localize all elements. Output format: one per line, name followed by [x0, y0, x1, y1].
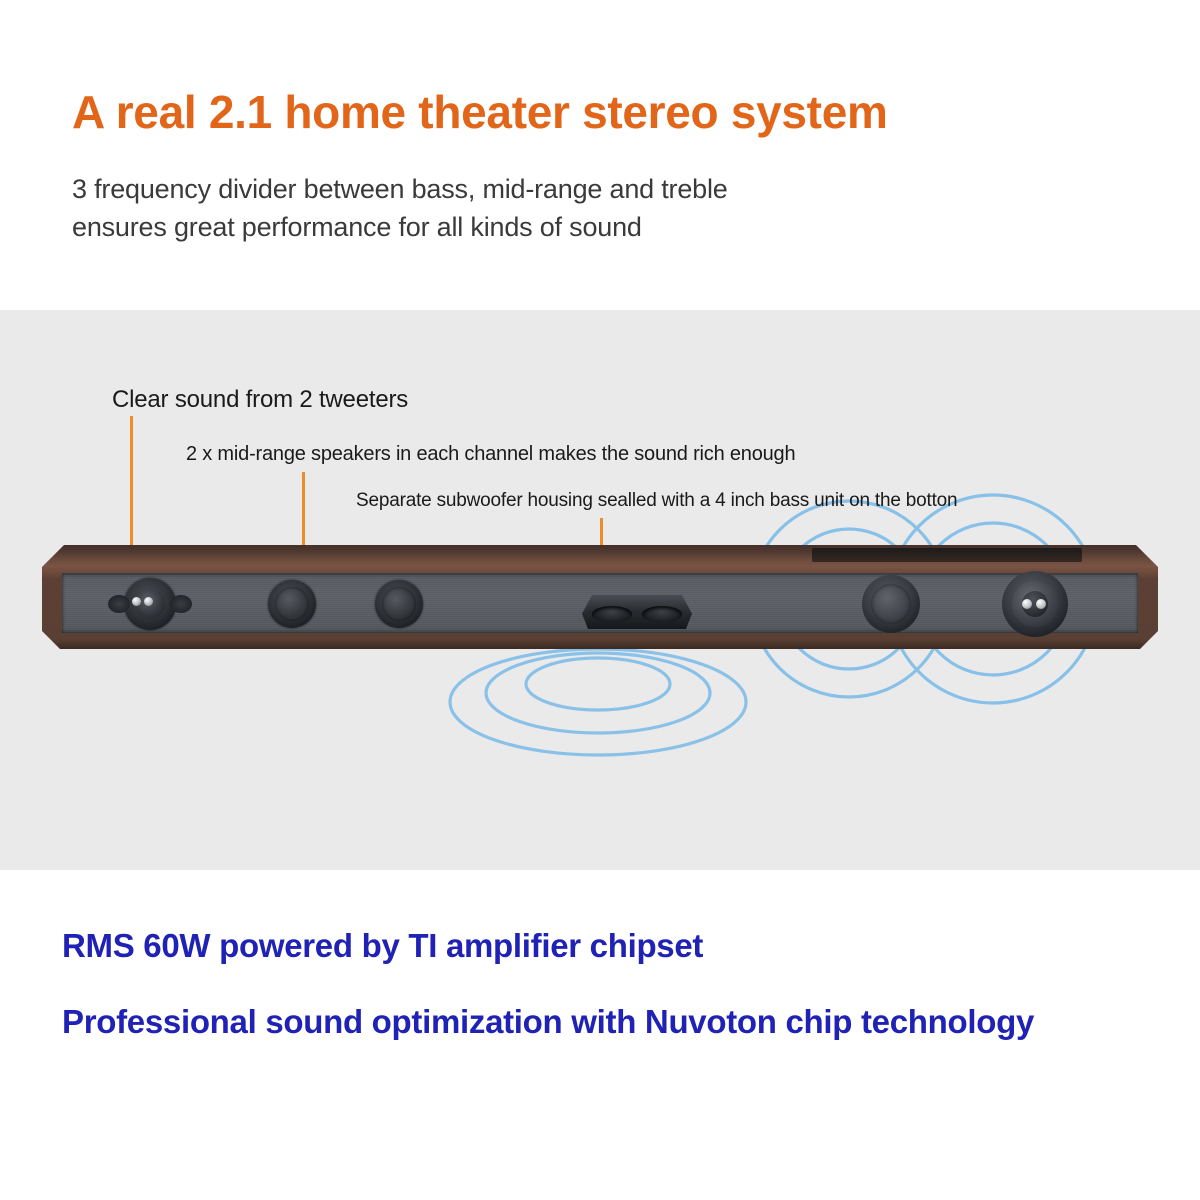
feature-text-chip-technology: Professional sound optimization with Nuv… [62, 1003, 1034, 1041]
mid-range-cone-1 [275, 587, 309, 621]
mid-range-driver-right [862, 575, 920, 633]
tweeter-right-dustcap-left [1022, 599, 1032, 609]
sound-wave-ellipse [526, 658, 670, 710]
sound-wave-ellipse [486, 653, 710, 733]
callout-label-subwoofer: Separate subwoofer housing sealled with … [356, 490, 957, 512]
mid-range-driver-1 [268, 580, 316, 628]
tweeter-driver-right [1002, 571, 1068, 637]
subtitle-line-1: 3 frequency divider between bass, mid-ra… [72, 174, 728, 204]
page-title: A real 2.1 home theater stereo system [72, 88, 888, 136]
mid-range-driver-2 [375, 580, 423, 628]
mid-range-cone-right [871, 584, 911, 624]
product-feature-page: A real 2.1 home theater stereo system 3 … [0, 0, 1200, 1200]
tweeter-dustcap [132, 597, 141, 606]
subwoofer-port-slot-right [642, 606, 682, 622]
mid-range-cone-2 [382, 587, 416, 621]
callout-label-mid-range: 2 x mid-range speakers in each channel m… [186, 443, 795, 466]
callout-label-tweeters: Clear sound from 2 tweeters [112, 386, 408, 414]
product-illustration-panel: Clear sound from 2 tweeters 2 x mid-rang… [0, 310, 1200, 870]
soundbar-top-recess [812, 548, 1082, 562]
subwoofer-port [582, 595, 692, 629]
sound-wave-ellipse [450, 649, 746, 755]
footer-section: RMS 60W powered by TI amplifier chipset … [0, 870, 1200, 1200]
tweeter-dustcap-secondary [144, 597, 153, 606]
subtitle: 3 frequency divider between bass, mid-ra… [72, 170, 728, 247]
soundbar-product-image [42, 545, 1158, 649]
subtitle-line-2: ensures great performance for all kinds … [72, 208, 728, 246]
tweeter-driver-left [124, 578, 176, 630]
tweeter-right-dustcap-right [1036, 599, 1046, 609]
subwoofer-port-slot-left [592, 606, 632, 622]
header-section: A real 2.1 home theater stereo system 3 … [0, 0, 1200, 310]
feature-text-amplifier: RMS 60W powered by TI amplifier chipset [62, 927, 703, 965]
